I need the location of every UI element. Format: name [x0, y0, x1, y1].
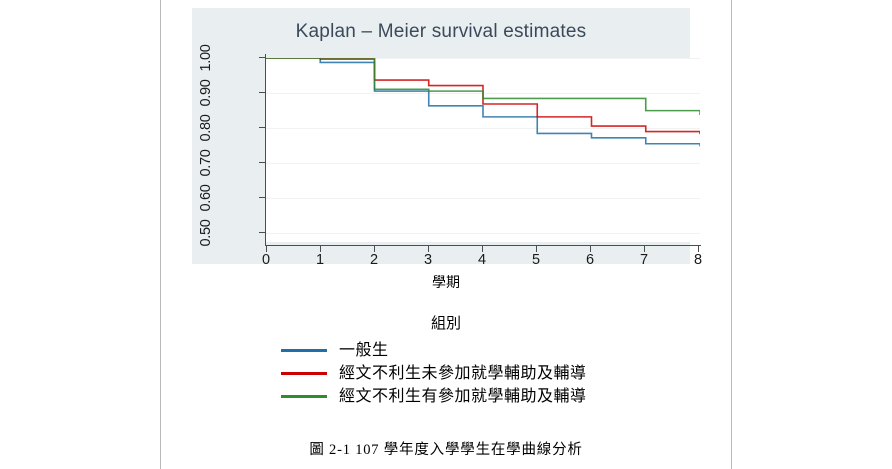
- y-label-0-50: 0.50: [198, 203, 214, 263]
- document-page: Kaplan – Meier survival estimates: [0, 0, 892, 469]
- chart-title: Kaplan – Meier survival estimates: [192, 21, 690, 43]
- legend-items: 一般生經文不利生未參加就學輔助及輔導經文不利生有參加就學輔助及輔導: [281, 339, 611, 408]
- x-label-8: 8: [686, 252, 710, 268]
- x-label-7: 7: [632, 252, 656, 268]
- survival-curves: [266, 58, 700, 242]
- x-label-4: 4: [470, 252, 494, 268]
- legend-title: 組別: [161, 312, 731, 333]
- legend-swatch-3: [281, 395, 327, 399]
- series-paths: [266, 58, 700, 146]
- y-tick-0-70: [259, 162, 265, 163]
- graph-region: Kaplan – Meier survival estimates: [192, 8, 690, 264]
- chart-legend: 組別 一般生經文不利生未參加就學輔助及輔導經文不利生有參加就學輔助及輔導: [161, 312, 731, 408]
- y-tick-0-90: [259, 92, 265, 93]
- x-label-1: 1: [308, 252, 332, 268]
- x-axis-title: 學期: [161, 272, 731, 292]
- x-label-3: 3: [416, 252, 440, 268]
- legend-swatch-2: [281, 372, 327, 376]
- x-label-0: 0: [254, 252, 278, 268]
- x-label-2: 2: [362, 252, 386, 268]
- x-label-5: 5: [524, 252, 548, 268]
- legend-label-1: 一般生: [339, 343, 389, 359]
- x-label-6: 6: [578, 252, 602, 268]
- legend-swatch-1: [281, 349, 327, 353]
- figure-caption: 圖 2-1 107 學年度入學學生在學曲線分析: [0, 438, 892, 459]
- y-tick-0-80: [259, 127, 265, 128]
- figure-kaplan-meier: Kaplan – Meier survival estimates: [161, 0, 731, 469]
- legend-label-3: 經文不利生有參加就學輔助及輔導: [339, 389, 587, 405]
- legend-label-2: 經文不利生未參加就學輔助及輔導: [339, 366, 587, 382]
- y-axis-line: [265, 54, 266, 246]
- page-right-rule: [731, 0, 732, 469]
- y-tick-0-50: [259, 232, 265, 233]
- legend-row-2: 經文不利生未參加就學輔助及輔導: [281, 362, 611, 385]
- y-tick-0-60: [259, 197, 265, 198]
- y-tick-1-00: [259, 57, 265, 58]
- legend-row-1: 一般生: [281, 339, 611, 362]
- legend-row-3: 經文不利生有參加就學輔助及輔導: [281, 385, 611, 408]
